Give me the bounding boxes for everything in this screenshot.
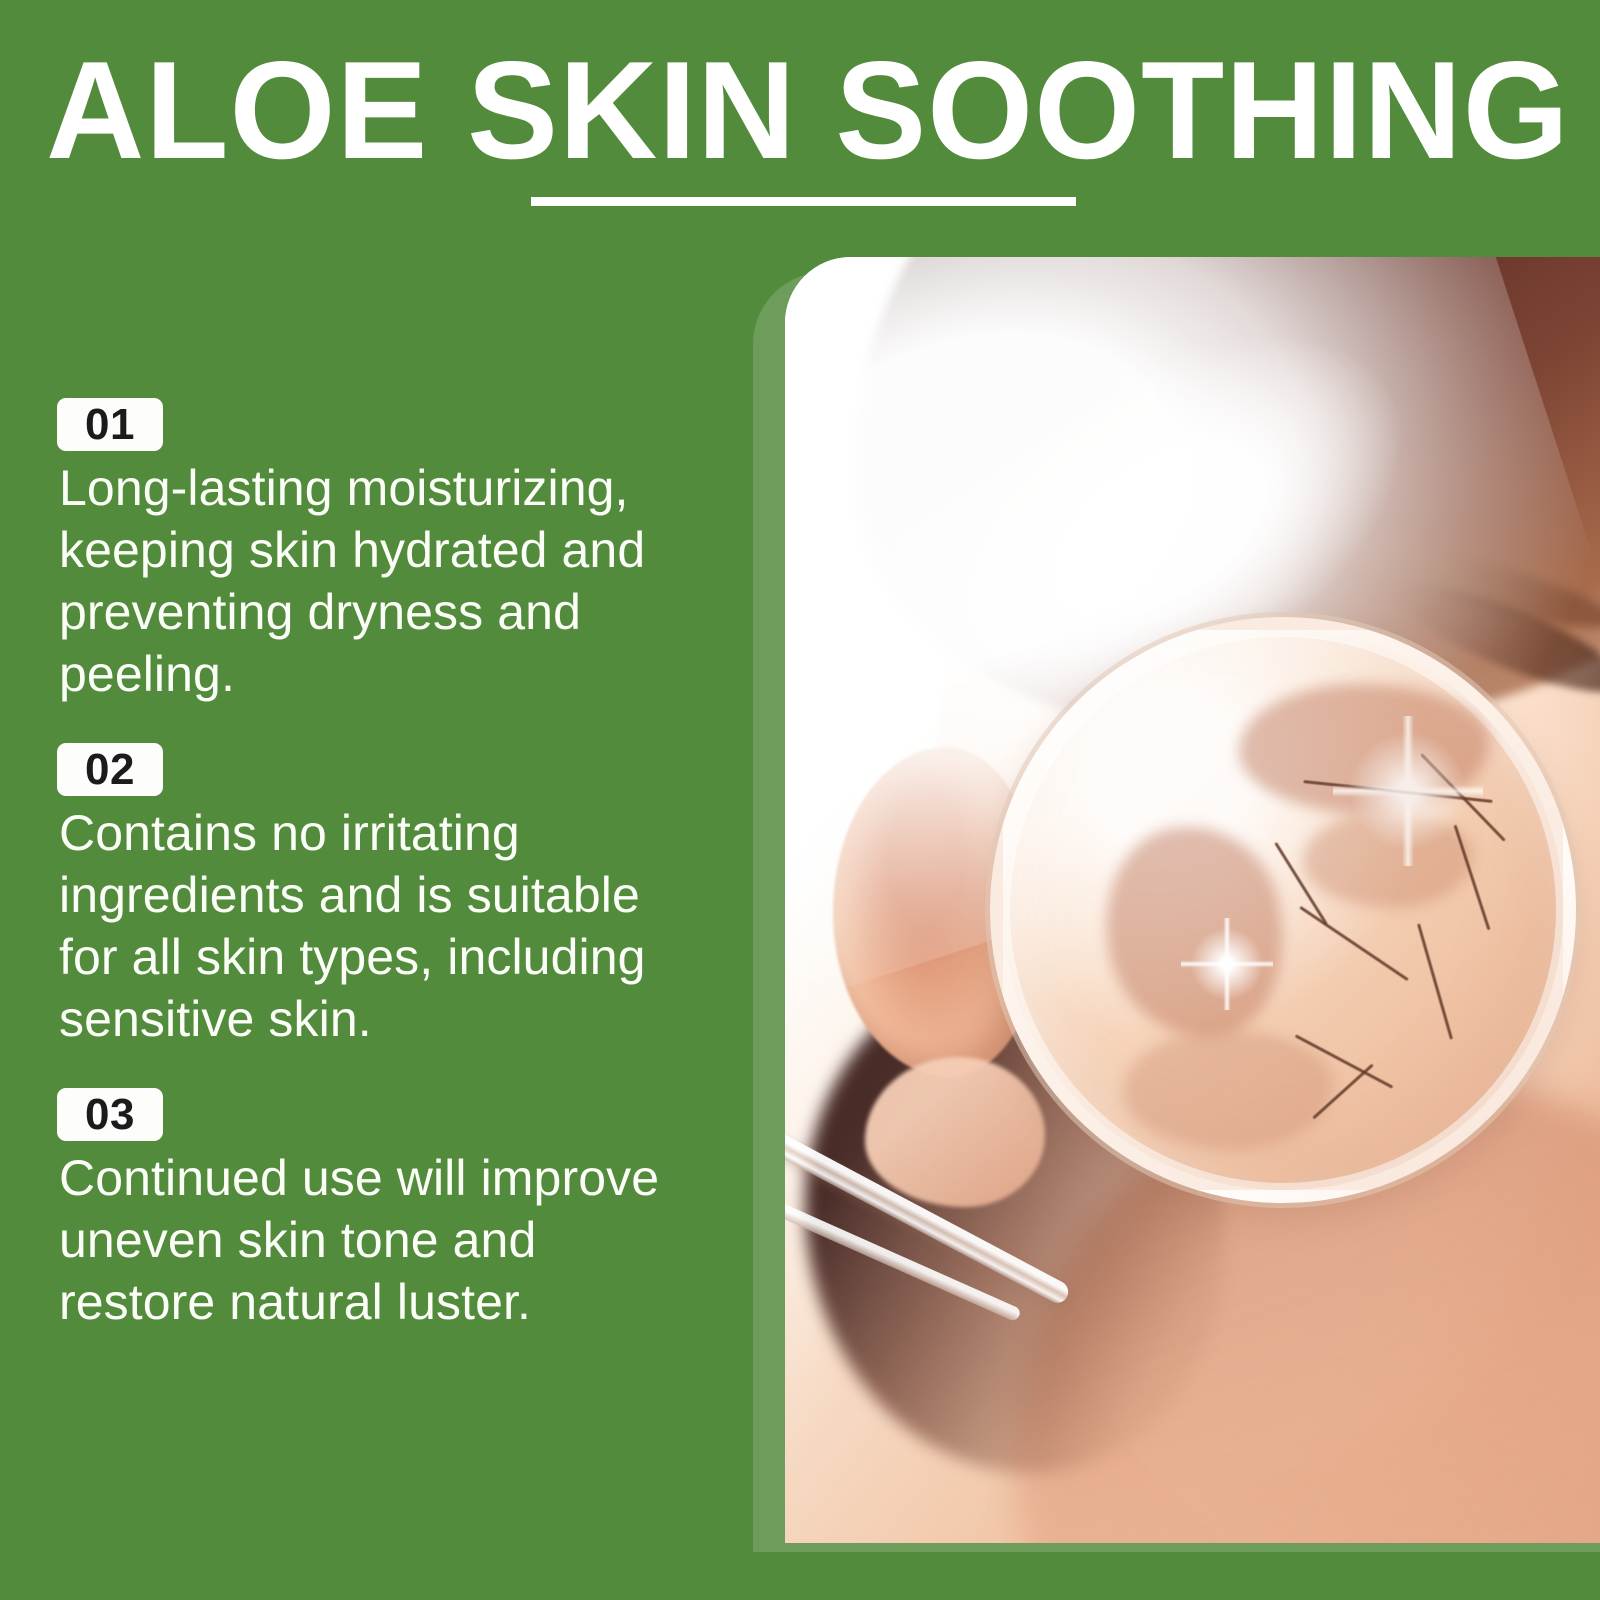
product-feature-poster: ALOE SKIN SOOTHING BALM: [0, 0, 1600, 1600]
feature-item-01: 01 Long-lasting moisturizing, keeping sk…: [57, 398, 717, 705]
title-underline: [531, 197, 1076, 206]
page-title: ALOE SKIN SOOTHING BALM: [46, 36, 1536, 186]
sparkle-icon: [1181, 918, 1273, 1010]
feature-description: Contains no irritating ingredients and i…: [59, 802, 699, 1050]
dry-patch: [1123, 1030, 1333, 1150]
skin-crack-line: [1299, 906, 1408, 981]
feature-number-badge: 02: [57, 743, 163, 796]
magnifying-glass-icon: [990, 617, 1576, 1203]
feature-item-03: 03 Continued use will improve uneven ski…: [57, 1088, 717, 1333]
skin-crack-line: [1417, 923, 1453, 1039]
feature-item-02: 02 Contains no irritating ingredients an…: [57, 743, 717, 1050]
sparkle-icon: [1333, 716, 1483, 866]
feature-description: Continued use will improve uneven skin t…: [59, 1147, 699, 1333]
product-photo: [785, 257, 1600, 1543]
feature-list: 01 Long-lasting moisturizing, keeping sk…: [57, 398, 717, 1333]
feature-number-badge: 01: [57, 398, 163, 451]
feature-description: Long-lasting moisturizing, keeping skin …: [59, 457, 699, 705]
feature-number-badge: 03: [57, 1088, 163, 1141]
